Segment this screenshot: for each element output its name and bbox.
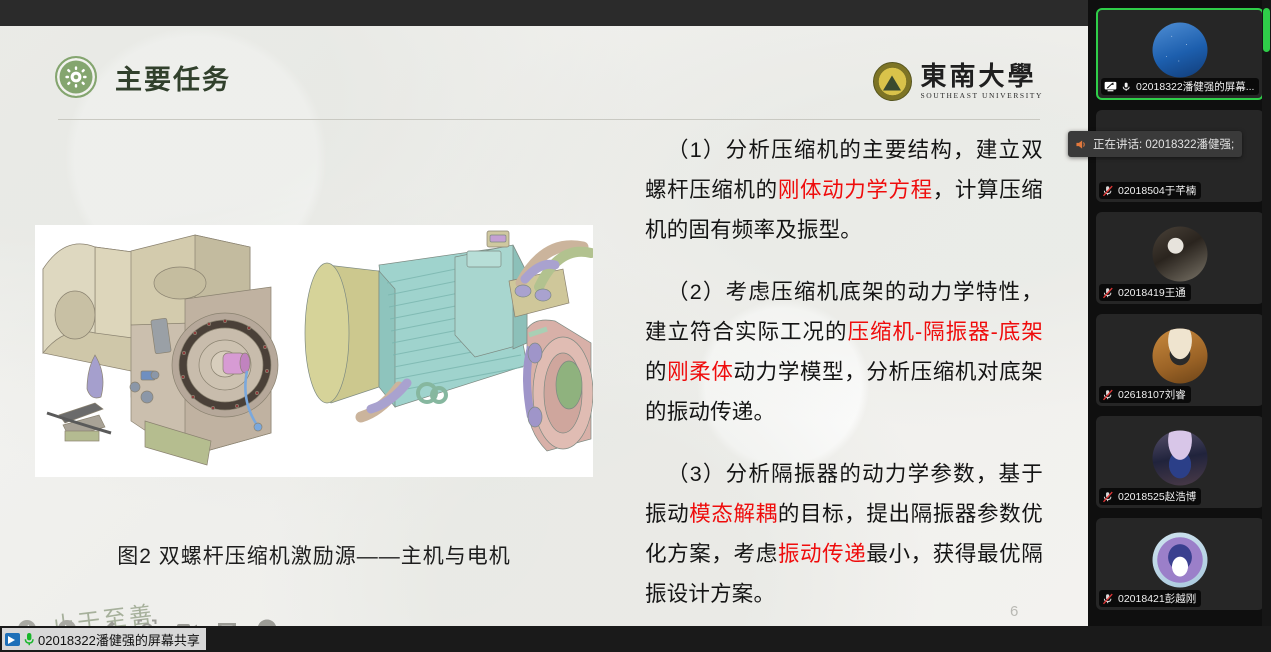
video-tile-label: 02018419王通	[1099, 284, 1191, 301]
mic-muted-icon	[1102, 491, 1114, 503]
slide-page-number: 6	[1010, 603, 1018, 620]
pen-icon[interactable]	[94, 616, 120, 626]
shared-screen-region: 主要任务 東南大學 SOUTHEAST UNIVERSITY	[0, 0, 1088, 626]
screen-root: 主要任务 東南大學 SOUTHEAST UNIVERSITY	[0, 0, 1271, 652]
mic-muted-icon	[1102, 185, 1114, 197]
previous-slide-button[interactable]	[14, 616, 40, 626]
task-paragraph-2: （2）考虑压缩机底架的动力学特性，建立符合实际工况的压缩机-隔振器-底架的刚柔体…	[645, 272, 1043, 432]
mic-muted-icon	[1102, 287, 1114, 299]
participant-name: 02018419王通	[1118, 285, 1186, 300]
mic-muted-icon	[1102, 593, 1114, 605]
figure-image	[35, 225, 593, 477]
video-tile[interactable]: 02018421彭越刚	[1096, 518, 1264, 610]
highlighted-text: 刚柔体	[667, 360, 733, 384]
body-text: 的	[645, 360, 667, 384]
speaking-icon	[1074, 138, 1087, 151]
university-logo: 東南大學 SOUTHEAST UNIVERSITY	[873, 62, 1044, 101]
university-name-cn: 東南大學	[921, 64, 1044, 90]
video-tile-label: 02018421彭越刚	[1099, 590, 1201, 607]
participant-name: 02018504于芊楠	[1118, 183, 1196, 198]
avatar	[1153, 329, 1208, 384]
video-tile-label: 02618107刘睿	[1099, 386, 1191, 403]
powerpoint-slide: 主要任务 東南大學 SOUTHEAST UNIVERSITY	[0, 26, 1088, 626]
video-tile-label: 02018322潘健强的屏幕...	[1101, 78, 1259, 95]
shared-window-topbar	[0, 0, 1088, 26]
taskbar-item-label: 02018322潘健强的屏幕共享	[38, 630, 200, 649]
participant-name: 02018421彭越刚	[1118, 591, 1196, 606]
ellipsis-icon[interactable]	[254, 616, 280, 626]
participant-name: 02018322潘健强的屏幕...	[1136, 79, 1254, 94]
avatar	[1153, 533, 1208, 588]
screen-share-icon	[1104, 81, 1117, 92]
video-tile[interactable]: 02018419王通	[1096, 212, 1264, 304]
mic-muted-icon	[1102, 389, 1114, 401]
windows-taskbar[interactable]: 02018322潘健强的屏幕共享	[0, 626, 1271, 652]
task-paragraph-3: （3）分析隔振器的动力学参数，基于振动模态解耦的目标，提出隔振器参数优化方案，考…	[645, 454, 1043, 614]
page-title: 主要任务	[115, 58, 231, 97]
avatar	[1153, 23, 1208, 78]
avatar	[1153, 431, 1208, 486]
slide-body-text: （1）分析压缩机的主要结构，建立双螺杆压缩机的刚体动力学方程，计算压缩机的固有频…	[645, 130, 1043, 626]
microphone-icon	[23, 632, 35, 646]
speaking-indicator-text: 正在讲话: 02018322潘健强;	[1093, 136, 1234, 152]
video-tile[interactable]: 02018322潘健强的屏幕...	[1096, 8, 1264, 100]
task-paragraph-1: （1）分析压缩机的主要结构，建立双螺杆压缩机的刚体动力学方程，计算压缩机的固有频…	[645, 130, 1043, 250]
header-divider	[58, 119, 1040, 120]
video-camera-icon[interactable]	[174, 616, 200, 626]
avatar	[1153, 227, 1208, 282]
video-panel-scrollbar[interactable]	[1262, 0, 1271, 626]
video-tile[interactable]: 02618107刘睿	[1096, 314, 1264, 406]
university-wordmark: 東南大學 SOUTHEAST UNIVERSITY	[921, 64, 1044, 100]
highlighted-text: 振动传递	[778, 542, 867, 566]
seu-seal-icon	[873, 62, 912, 101]
gear-icon	[55, 56, 97, 98]
video-panel-scrollbar-thumb[interactable]	[1263, 8, 1270, 52]
next-slide-button[interactable]	[54, 616, 80, 626]
magnifier-icon[interactable]	[134, 616, 160, 626]
mic-on-icon	[1121, 81, 1132, 93]
taskbar-item-screen-share[interactable]: 02018322潘健强的屏幕共享	[2, 628, 206, 650]
university-name-en: SOUTHEAST UNIVERSITY	[921, 92, 1044, 100]
figure-caption: 图2 双螺杆压缩机激励源——主机与电机	[35, 540, 593, 570]
highlighted-text: 刚体动力学方程	[778, 178, 933, 202]
caption-icon[interactable]	[214, 616, 240, 626]
participants-video-panel[interactable]: 02018322潘健强的屏幕... 02018504于芊楠 02018419王通…	[1088, 0, 1271, 626]
video-tile-label: 02018504于芊楠	[1099, 182, 1201, 199]
screen-share-icon	[5, 633, 20, 646]
presentation-toolbar[interactable]	[14, 616, 280, 626]
video-tile[interactable]: 02018525赵浩博	[1096, 416, 1264, 508]
participant-name: 02018525赵浩博	[1118, 489, 1196, 504]
video-tile-list: 02018322潘健强的屏幕... 02018504于芊楠 02018419王通…	[1096, 8, 1265, 610]
video-tile-label: 02018525赵浩博	[1099, 488, 1201, 505]
highlighted-text: 压缩机-隔振器-底架	[847, 320, 1043, 344]
participant-name: 02618107刘睿	[1118, 387, 1186, 402]
highlighted-text: 模态解耦	[689, 502, 778, 526]
speaking-indicator-tooltip: 正在讲话: 02018322潘健强;	[1068, 131, 1242, 157]
